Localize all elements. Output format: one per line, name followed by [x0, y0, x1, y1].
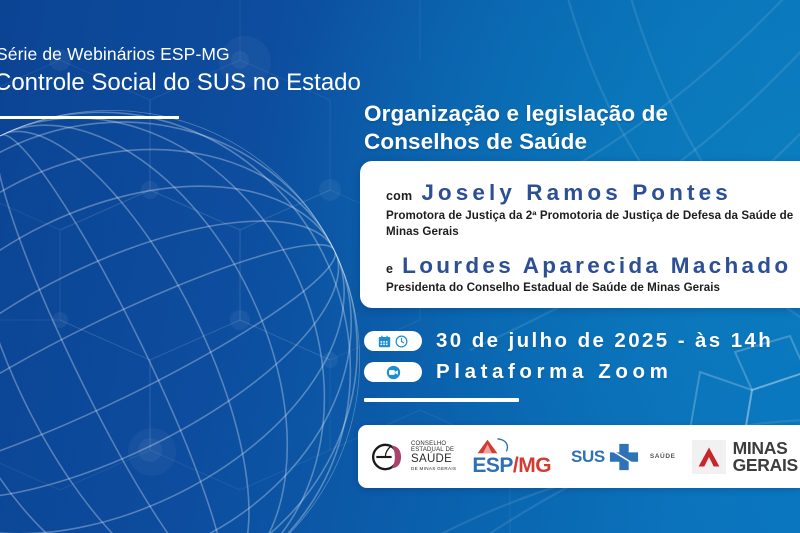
series-label: Série de Webinários ESP-MG — [0, 44, 370, 66]
speaker-entry: com Josely Ramos Pontes Promotora de Jus… — [386, 181, 800, 241]
mg-line2: GERAIS — [733, 457, 798, 473]
meta-divider — [364, 398, 519, 402]
logo-conselho-estadual-saude: CONSELHO ESTADUAL DE SAÚDE DE MINAS GERA… — [370, 439, 456, 475]
speaker-conjunction: e — [386, 262, 393, 276]
logos-bar: CONSELHO ESTADUAL DE SAÚDE DE MINAS GERA… — [358, 425, 800, 488]
sus-cross-icon — [608, 442, 640, 472]
speaker-role: Promotora de Justiça da 2ª Promotoria de… — [386, 208, 800, 241]
event-platform-text: Plataforma Zoom — [436, 360, 672, 384]
esp-text: ESP — [472, 454, 513, 477]
speaker-name: Lourdes Aparecida Machado — [402, 254, 791, 279]
logo-esp-mg: ESP/MG — [472, 437, 551, 476]
speaker-name: Josely Ramos Pontes — [421, 181, 732, 206]
esp-mg-mark-icon — [472, 437, 512, 455]
webinar-banner: Série de Webinários ESP-MG Controle Soci… — [0, 0, 800, 533]
sus-caption: SAÚDE — [650, 453, 676, 460]
video-camera-icon — [386, 365, 401, 380]
event-platform-row: Plataforma Zoom — [364, 360, 773, 384]
date-icon-pill — [364, 331, 422, 351]
logo-minas-gerais: MINAS GERAIS GOVERNO DIFERENTE. ESTADO E… — [692, 440, 800, 474]
platform-icon-pill — [364, 362, 422, 382]
speakers-panel: com Josely Ramos Pontes Promotora de Jus… — [360, 161, 800, 308]
event-date-text: 30 de julho de 2025 - às 14h — [436, 329, 773, 353]
series-title: Controle Social do SUS no Estado — [0, 67, 370, 98]
event-date-row: 30 de julho de 2025 - às 14h — [364, 329, 773, 353]
event-meta: 30 de julho de 2025 - às 14h Plataforma … — [364, 329, 773, 402]
speaker-entry: e Lourdes Aparecida Machado Presidenta d… — [386, 254, 800, 297]
page-title: Organização e legislação de Conselhos de… — [364, 100, 784, 157]
speaker-role: Presidenta do Conselho Estadual de Saúde… — [386, 280, 800, 296]
header-divider — [0, 116, 179, 119]
calendar-icon — [378, 335, 391, 348]
ces-line4: DE MINAS GERAIS — [411, 467, 456, 472]
minas-gerais-mark-icon — [692, 440, 726, 474]
mg-text: MG — [518, 454, 551, 477]
header-block: Série de Webinários ESP-MG Controle Soci… — [0, 44, 370, 119]
speaker-conjunction: com — [386, 189, 412, 203]
clock-icon — [395, 335, 408, 348]
sus-word: SUS — [571, 447, 605, 467]
ces-emblem-icon — [370, 439, 406, 475]
logo-sus: SUS SAÚDE — [571, 442, 676, 472]
ces-line3: SAÚDE — [411, 454, 456, 466]
